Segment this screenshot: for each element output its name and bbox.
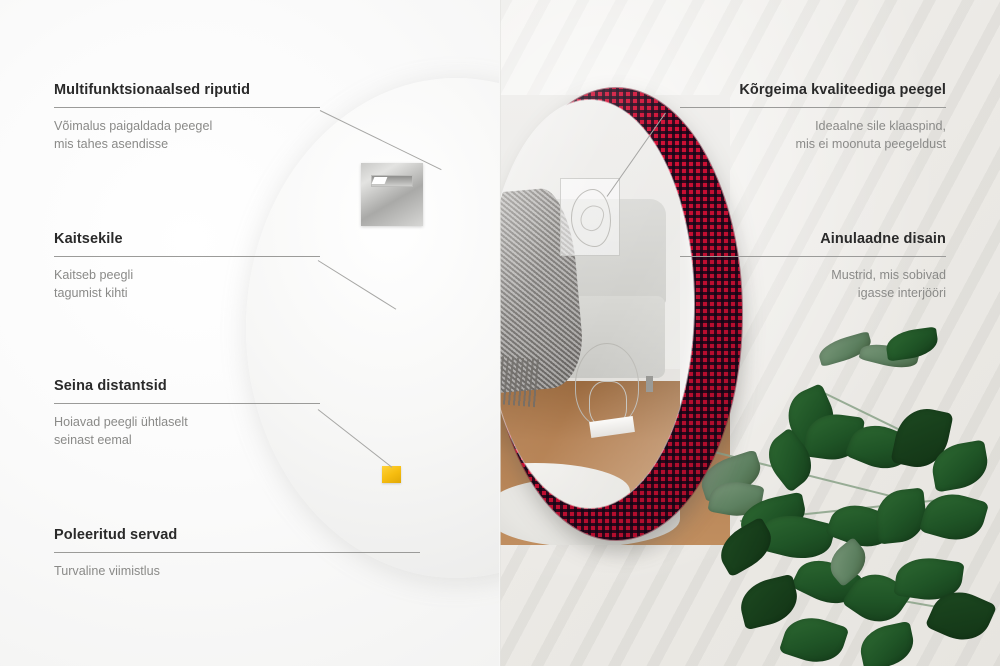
callout-description: Kaitseb peegli tagumist kihti [54,267,320,302]
glass-reflection-sheen [486,100,694,508]
callout-title: Ainulaadne disain [680,231,946,247]
mirror-glass [486,100,694,508]
callout-kaitsekile: Kaitsekile Kaitseb peegli tagumist kihti [54,231,320,302]
callout-description: Mustrid, mis sobivad igasse interjööri [680,267,946,302]
callout-description: Ideaalne sile klaaspind, mis ei moonuta … [680,118,946,153]
callout-title: Seina distantsid [54,378,320,394]
mirror-back-surface [246,78,500,578]
callout-ainulaadne-disain: Ainulaadne disain Mustrid, mis sobivad i… [680,231,946,302]
callout-title: Kaitsekile [54,231,320,247]
panel-divider [499,0,501,666]
callout-title: Poleeritud servad [54,527,420,543]
hanger-plate [361,163,423,226]
callout-rule [54,107,320,108]
callout-korgeima-kvaliteediga-peegel: Kõrgeima kvaliteediga peegel Ideaalne si… [680,82,946,153]
callout-seina-distantsid: Seina distantsid Hoiavad peegli ühtlasel… [54,378,320,449]
callout-title: Kõrgeima kvaliteediga peegel [680,82,946,98]
callout-rule [680,256,946,257]
callout-poleeritud-servad: Poleeritud servad Turvaline viimistlus [54,527,420,581]
hanger-slot-icon [371,175,413,187]
callout-rule [54,403,320,404]
callout-rule [54,256,320,257]
callout-rule [680,107,946,108]
callout-multifunktsionaalsed-riputid: Multifunktsionaalsed riputid Võimalus pa… [54,82,320,153]
callout-description: Turvaline viimistlus [54,563,420,581]
callout-description: Hoiavad peegli ühtlaselt seinast eemal [54,414,320,449]
yellow-spacer [382,466,401,483]
callout-title: Multifunktsionaalsed riputid [54,82,320,98]
callout-rule [54,552,420,553]
infographic-canvas: Multifunktsionaalsed riputid Võimalus pa… [0,0,1000,666]
callout-description: Võimalus paigaldada peegel mis tahes ase… [54,118,320,153]
